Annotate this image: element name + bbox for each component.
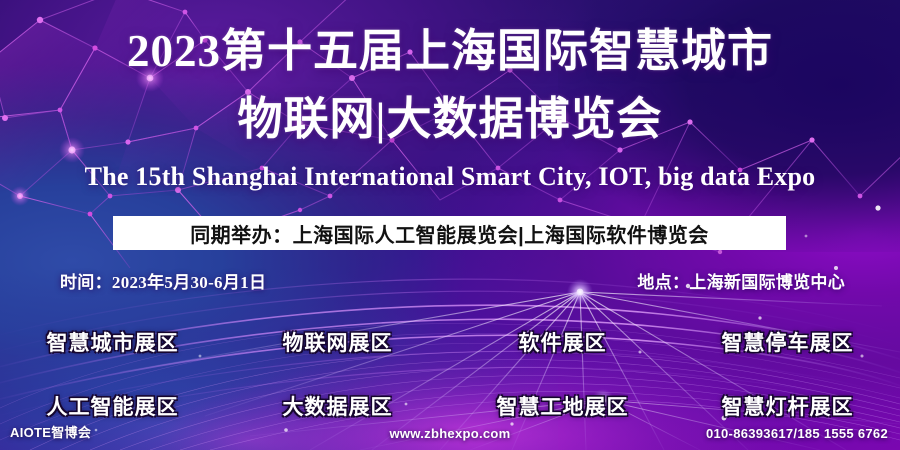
- zone-cell: 人工智能展区: [0, 391, 225, 421]
- zone-label-big-data: 大数据展区: [283, 391, 393, 421]
- zone-label-smart-construction: 智慧工地展区: [497, 391, 629, 421]
- event-date: 时间：2023年5月30-6月1日: [60, 268, 266, 293]
- main-title-line-1: 2023第十五届上海国际智慧城市: [0, 24, 900, 78]
- subtitle-english: The 15th Shanghai International Smart Ci…: [0, 160, 900, 194]
- exhibition-zones-row-1: 智慧城市展区 物联网展区 软件展区 智慧停车展区: [0, 327, 900, 357]
- concurrent-events-text: 同期举办：上海国际人工智能展览会|上海国际软件博览会: [190, 219, 709, 248]
- exhibition-zones-row-2: 人工智能展区 大数据展区 智慧工地展区 智慧灯杆展区: [0, 391, 900, 421]
- zone-label-smart-parking: 智慧停车展区: [722, 327, 854, 357]
- expo-promo-banner: 2023第十五届上海国际智慧城市 物联网|大数据博览会 The 15th Sha…: [0, 0, 900, 450]
- zone-cell: 智慧灯杆展区: [675, 391, 900, 421]
- zone-cell: 软件展区: [450, 327, 675, 357]
- main-title-line-2: 物联网|大数据博览会: [0, 92, 900, 146]
- event-venue: 地点：上海新国际博览中心: [637, 268, 845, 293]
- footer-phone: 010-86393617/185 1555 6762: [706, 426, 888, 441]
- zone-cell: 智慧工地展区: [450, 391, 675, 421]
- zone-cell: 物联网展区: [225, 327, 450, 357]
- zone-label-iot: 物联网展区: [283, 327, 393, 357]
- zone-label-software: 软件展区: [519, 327, 607, 357]
- zone-cell: 智慧停车展区: [675, 327, 900, 357]
- zone-cell: 智慧城市展区: [0, 327, 225, 357]
- zone-label-smart-lamppost: 智慧灯杆展区: [722, 391, 854, 421]
- zone-label-smart-city: 智慧城市展区: [47, 327, 179, 357]
- zone-cell: 大数据展区: [225, 391, 450, 421]
- zone-label-ai: 人工智能展区: [47, 391, 179, 421]
- concurrent-events-box: 同期举办：上海国际人工智能展览会|上海国际软件博览会: [113, 216, 786, 250]
